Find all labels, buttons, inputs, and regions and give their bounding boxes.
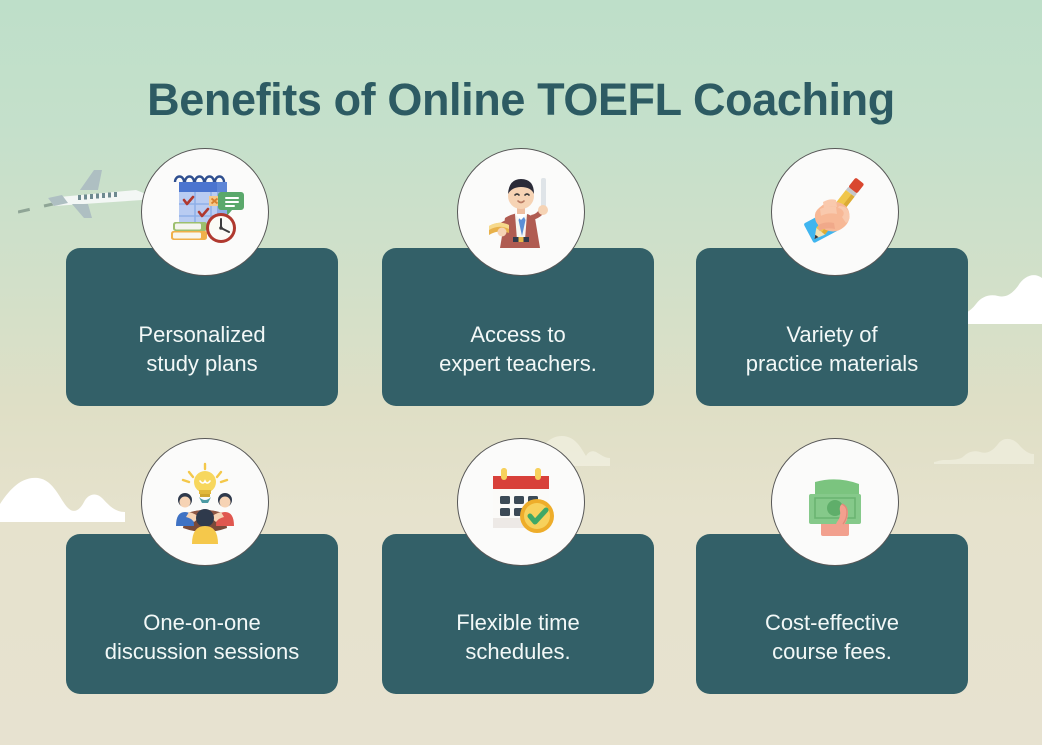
benefit-card-access-to-expert-teachers[interactable]: Access to expert teachers. <box>380 148 674 408</box>
benefit-card-variety-of-practice-materials[interactable]: Variety of practice materials <box>694 148 988 408</box>
benefit-row: Personalized study plans <box>0 148 1042 408</box>
infographic-canvas: Benefits of Online TOEFL Coaching Person… <box>0 0 1042 745</box>
card-label: Cost-effective course fees. <box>765 608 899 666</box>
benefit-card-one-on-one-discussion-sessions[interactable]: One-on-one discussion sessions <box>64 438 358 698</box>
card-label: Variety of practice materials <box>746 320 918 378</box>
card-label: Flexible time schedules. <box>456 608 579 666</box>
calendar-check-icon <box>457 438 585 566</box>
benefit-card-cost-effective-course-fees[interactable]: Cost-effective course fees. <box>694 438 988 698</box>
card-label: Access to expert teachers. <box>439 320 597 378</box>
page-title: Benefits of Online TOEFL Coaching <box>0 74 1042 126</box>
card-label: One-on-one discussion sessions <box>105 608 299 666</box>
hand-holding-money-icon <box>771 438 899 566</box>
card-label: Personalized study plans <box>138 320 265 378</box>
benefit-card-personalized-study-plans[interactable]: Personalized study plans <box>64 148 358 408</box>
benefit-card-flexible-time-schedules[interactable]: Flexible time schedules. <box>380 438 674 698</box>
benefit-row: One-on-one discussion sessions <box>0 438 1042 698</box>
hand-holding-pencil-icon <box>771 148 899 276</box>
teacher-with-pointer-icon <box>457 148 585 276</box>
group-discussion-lightbulb-icon <box>141 438 269 566</box>
calendar-books-clock-icon <box>141 148 269 276</box>
